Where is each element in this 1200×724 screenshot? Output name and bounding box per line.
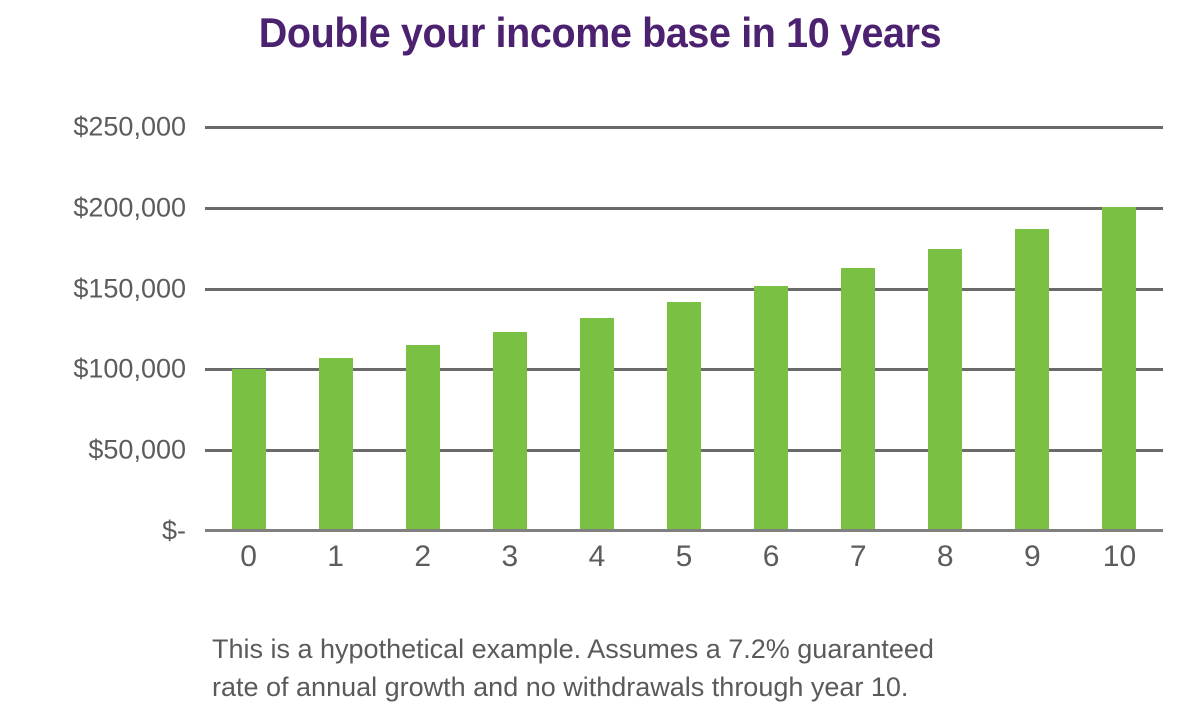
- bar: [841, 268, 875, 531]
- x-axis-tick-label: 4: [589, 540, 606, 574]
- bar: [1102, 207, 1136, 531]
- x-axis-tick-label: 6: [763, 540, 780, 574]
- bar: [928, 249, 962, 531]
- y-axis-tick-label: $150,000: [73, 273, 186, 304]
- y-axis-tick-label: $50,000: [88, 435, 186, 466]
- bar: [319, 358, 353, 531]
- bar: [232, 369, 266, 531]
- y-axis-tick-label: $250,000: [73, 112, 186, 143]
- x-axis-tick-label: 7: [850, 540, 867, 574]
- gridline: [205, 207, 1163, 210]
- footnote-line-2: rate of annual growth and no withdrawals…: [212, 668, 1132, 706]
- x-axis-tick-label: 8: [937, 540, 954, 574]
- bar: [1015, 229, 1049, 531]
- x-axis-tick-label: 0: [240, 540, 257, 574]
- x-axis-tick-label: 5: [676, 540, 693, 574]
- y-axis-tick-label: $100,000: [73, 354, 186, 385]
- bar: [667, 302, 701, 531]
- y-axis-tick-label: $200,000: [73, 192, 186, 223]
- x-axis-tick-label: 9: [1024, 540, 1041, 574]
- y-axis-tick-label: $-: [162, 516, 186, 547]
- x-axis-line: [205, 529, 1163, 532]
- chart-figure: Double your income base in 10 years $250…: [0, 0, 1200, 724]
- chart-footnote: This is a hypothetical example. Assumes …: [212, 630, 1132, 707]
- bar: [493, 332, 527, 531]
- x-axis-labels: 012345678910: [205, 540, 1163, 586]
- gridline: [205, 126, 1163, 129]
- x-axis-tick-label: 10: [1103, 540, 1136, 574]
- y-axis-labels: $250,000$200,000$150,000$100,000$50,000$…: [0, 127, 186, 531]
- plot-area: [205, 127, 1163, 531]
- x-axis-tick-label: 2: [414, 540, 431, 574]
- x-axis-tick-label: 1: [327, 540, 344, 574]
- bar: [406, 345, 440, 531]
- footnote-line-1: This is a hypothetical example. Assumes …: [212, 630, 1132, 668]
- chart-title: Double your income base in 10 years: [36, 10, 1164, 56]
- bar: [754, 286, 788, 531]
- bar: [580, 318, 614, 531]
- x-axis-tick-label: 3: [501, 540, 518, 574]
